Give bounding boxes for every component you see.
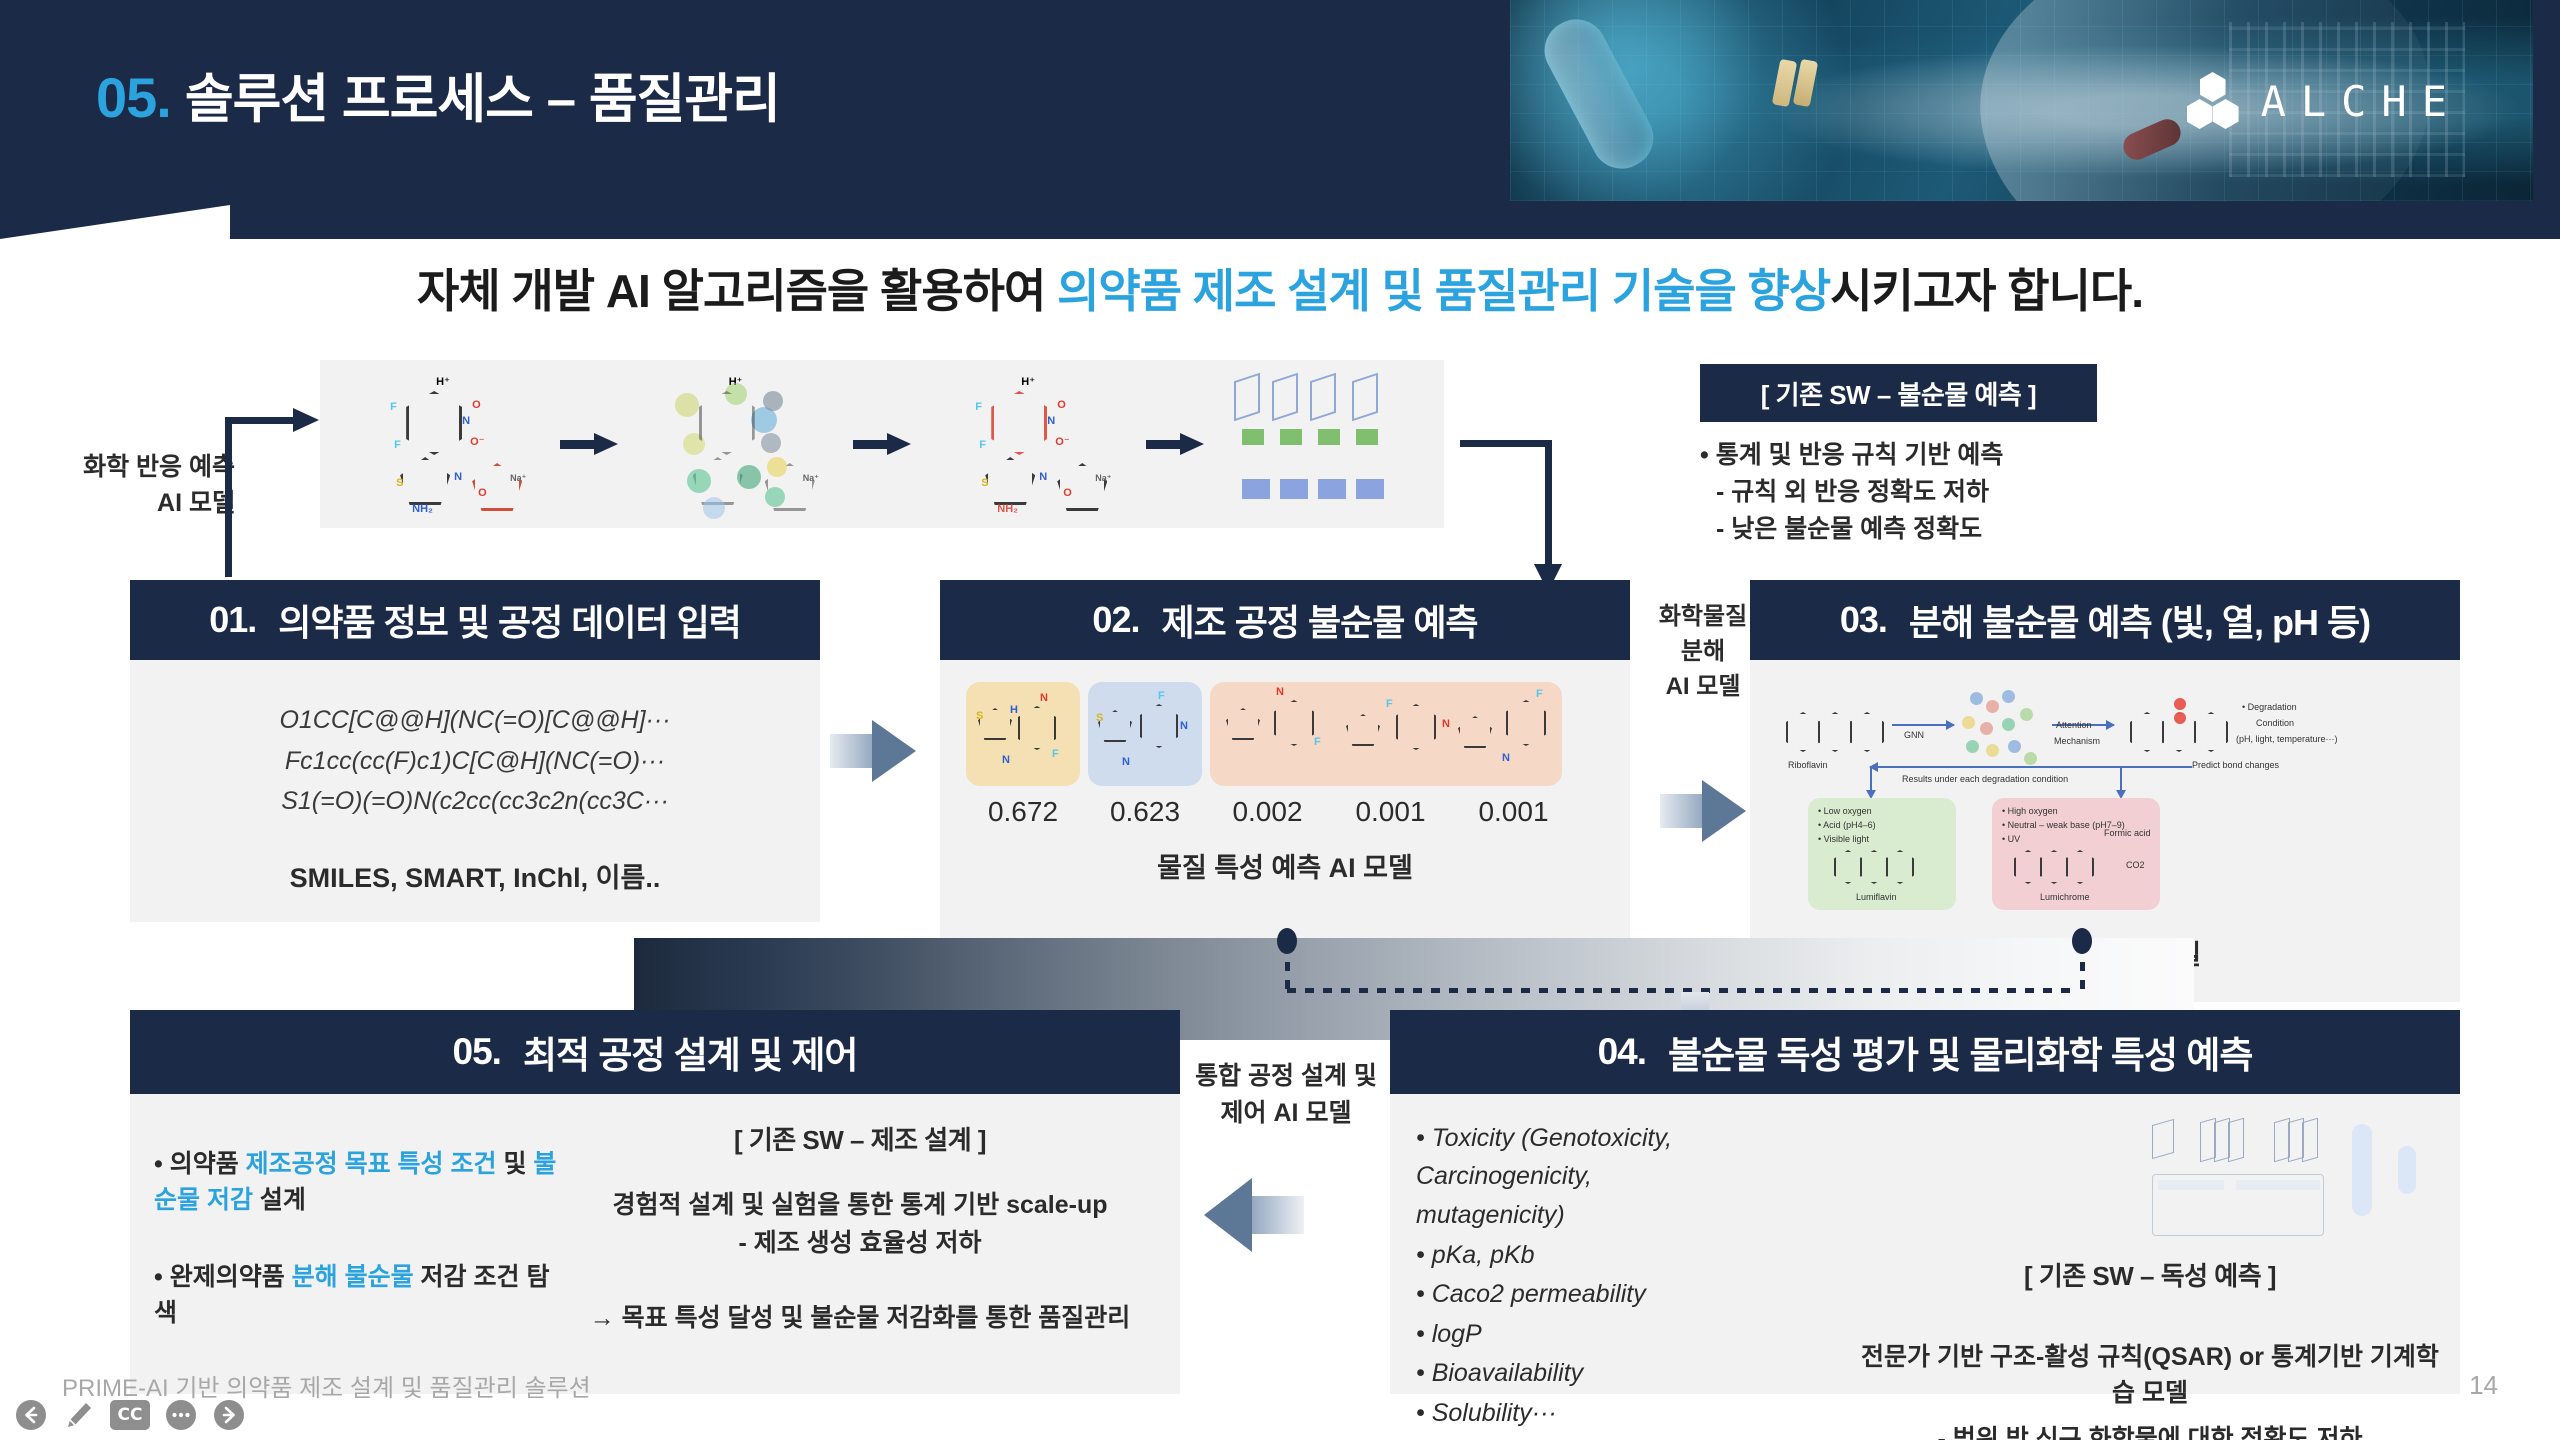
legacy-sw-impurity-heading: [ 기존 SW – 불순물 예측 ] (1700, 364, 2097, 422)
box04-legacy-heading: [ 기존 SW – 독성 예측 ] (1860, 1256, 2440, 1293)
mid-int-line1: 통합 공정 설계 및 (1186, 1058, 1386, 1095)
qsar-model-figure (2144, 1112, 2434, 1247)
card-box05-number: 05. (453, 1031, 501, 1073)
reaction-arrow-icon (1146, 433, 1204, 455)
capsule-graphic (2119, 115, 2185, 164)
degradation-result-card-low-oxygen: • Low oxygen • Acid (pH4–6) • Visible li… (1808, 798, 1956, 910)
card-box01: 01. 의약품 정보 및 공정 데이터 입력 O1CC[C@@H](NC(=O)… (130, 580, 820, 922)
card-box02-number: 02. (1092, 599, 1139, 641)
arrow-box02-to-box03-icon (1660, 780, 1746, 842)
pink-bullet-0: • High oxygen (2002, 806, 2058, 816)
impurity-score-0: 0.672 (966, 796, 1080, 828)
reaction-model-label-line1: 화학 반응 예측 (30, 450, 235, 486)
box05-bullet-1-a: • 의약품 (154, 1150, 246, 1178)
reaction-arrow-icon (560, 433, 618, 455)
smiles-line-0: O1CC[C@@H](NC(=O)[C@@H]··· (130, 700, 820, 741)
green-bullet-0: • Low oxygen (1818, 806, 1872, 816)
slide-header: 05. 솔루션 프로세스 – 품질관리 ALCHE (0, 0, 2560, 205)
box05-bullet-2-a: • 완제의약품 (154, 1263, 292, 1291)
box04-legacy-sw-block: [ 기존 SW – 독성 예측 ] 전문가 기반 구조-활성 규칙(QSAR) … (1860, 1256, 2440, 1440)
box04-property-4: • logP (1416, 1316, 1846, 1354)
legacy-sw-impurity-bullets: • 통계 및 반응 규칙 기반 예측 - 규칙 외 반응 정확도 저하 - 낮은… (1700, 437, 2240, 547)
arrow-box01-to-box02-icon (830, 720, 916, 782)
connector-reaction-to-box03 (1460, 440, 1580, 600)
pill-graphic (1793, 59, 1818, 107)
pink-bullet-2: • UV (2002, 834, 2020, 844)
card-box01-body: O1CC[C@@H](NC(=O)[C@@H]··· Fc1cc(cc(F)c1… (130, 660, 820, 922)
card-box01-title: 의약품 정보 및 공정 데이터 입력 (278, 594, 741, 646)
figure-condition-line3: (pH, light, temperature···) (2236, 734, 2338, 744)
header-angled-notch (0, 205, 2560, 239)
subtitle-highlight: 의약품 제조 설계 및 품질관리 기술을 향상 (1057, 265, 1830, 317)
brand-logo: ALCHE (2187, 72, 2462, 130)
impurity-molecule-tile-3: N F F N F N (1210, 682, 1562, 786)
page-title-text: 솔루션 프로세스 – 품질관리 (185, 57, 780, 133)
card-box03-title: 분해 불순물 예측 (빛, 열, pH 등) (1909, 594, 2370, 646)
box04-property-3: • Caco2 permeability (1416, 1276, 1846, 1314)
viewer-controls[interactable]: CC (14, 1398, 246, 1432)
card-box04: 04. 불순물 독성 평가 및 물리화학 특성 예측 • Toxicity (G… (1390, 1010, 2460, 1394)
box05-legacy-line1: 경험적 설계 및 실험을 통한 통계 기반 scale-up (560, 1187, 1160, 1225)
slide-subtitle: 자체 개발 AI 알고리즘을 활용하여 의약품 제조 설계 및 품질관리 기술을… (0, 255, 2560, 321)
pink-extra-formic-acid: Formic acid (2104, 828, 2151, 838)
degradation-prediction-figure: Riboflavin GNN Attention Mechanism (1774, 678, 2434, 918)
test-tube-graphic (1534, 9, 1664, 179)
brand-logo-text: ALCHE (2261, 77, 2462, 126)
box04-property-list: • Toxicity (Genotoxicity, Carcinogenicit… (1416, 1120, 1846, 1434)
subtitle-lead: 자체 개발 AI 알고리즘을 활용하여 (417, 265, 1057, 317)
box05-bullet-1-c: 설계 (253, 1186, 306, 1214)
legacy-sw-bullet-2: - 낮은 불순물 예측 정확도 (1700, 511, 2240, 548)
next-icon[interactable] (212, 1398, 246, 1432)
card-box03-number: 03. (1840, 599, 1887, 641)
figure-source-label: Riboflavin (1788, 760, 1828, 770)
reaction-step-neural-network (1228, 369, 1414, 519)
pen-icon[interactable] (62, 1398, 96, 1432)
green-bullet-2: • Visible light (1818, 834, 1869, 844)
reaction-step-reactants: H⁺ F F N O O⁻ S N NH₂ O Na⁺ (350, 369, 536, 519)
box04-property-1: mutagenicity) (1416, 1197, 1846, 1235)
dashed-line-vertical-right (2080, 944, 2085, 990)
pink-extra-co2: CO2 (2126, 860, 2145, 870)
cc-icon[interactable]: CC (110, 1400, 150, 1430)
reaction-model-label: 화학 반응 예측 AI 모델 (30, 450, 235, 521)
box05-legacy-sw-block: [ 기존 SW – 제조 설계 ] 경험적 설계 및 실험을 통한 통계 기반 … (560, 1094, 1180, 1394)
connector-label-to-reaction (225, 417, 320, 577)
impurity-score-1: 0.623 (1088, 796, 1202, 828)
card-box04-number: 04. (1598, 1031, 1646, 1073)
smiles-list: O1CC[C@@H](NC(=O)[C@@H]··· Fc1cc(cc(F)c1… (130, 660, 820, 822)
legacy-sw-bullet-0: • 통계 및 반응 규칙 기반 예측 (1700, 437, 2240, 474)
figure-attention-label-b: Mechanism (2054, 736, 2100, 746)
box05-bullet-1-b: 및 (497, 1150, 534, 1178)
box05-bullet-1: • 의약품 제조공정 목표 특성 조건 및 불순물 저감 설계 (154, 1146, 560, 1219)
slide-root: 05. 솔루션 프로세스 – 품질관리 ALCHE 자체 개발 AI 알고리즘을… (0, 0, 2560, 1440)
figure-arrow-gnn-icon (1892, 724, 1954, 726)
impurity-score-3: 0.001 (1333, 796, 1448, 828)
figure-condition-line2: Condition (2256, 718, 2294, 728)
card-box04-body: • Toxicity (Genotoxicity, Carcinogenicit… (1390, 1094, 2460, 1394)
box05-conclusion: → 목표 특성 달성 및 불순물 저감화를 통한 품질관리 (560, 1298, 1160, 1334)
legacy-sw-bullet-1: - 규칙 외 반응 정확도 저하 (1700, 474, 2240, 511)
smiles-line-1: Fc1cc(cc(F)c1)C[C@H](NC(=O)··· (130, 741, 820, 782)
figure-predict-bond-label: Predict bond changes (2192, 760, 2279, 770)
figure-condition-bullet: • Degradation (2242, 702, 2297, 712)
arrow-box04-to-box05-icon (1204, 1178, 1304, 1252)
card-box01-header: 01. 의약품 정보 및 공정 데이터 입력 (130, 580, 820, 660)
reaction-diagram-panel: H⁺ F F N O O⁻ S N NH₂ O Na⁺ H⁺ (320, 360, 1444, 528)
smiles-format-caption: SMILES, SMART, InChl, 이름.. (130, 856, 820, 895)
mid-int-line2: 제어 AI 모델 (1186, 1095, 1386, 1132)
page-title: 05. 솔루션 프로세스 – 품질관리 (96, 57, 780, 133)
prev-icon[interactable] (14, 1398, 48, 1432)
smiles-line-2: S1(=O)(=O)N(c2cc(cc3c2n(cc3C··· (130, 781, 820, 822)
impurity-molecule-tile-1: S H N N F (966, 682, 1080, 786)
box05-legacy-line2: - 제조 생성 효율성 저하 (560, 1225, 1160, 1263)
card-box05: 05. 최적 공정 설계 및 제어 • 의약품 제조공정 목표 특성 조건 및 … (130, 1010, 1180, 1394)
box04-property-6: • Solubility··· (1416, 1395, 1846, 1433)
page-number: 14 (2469, 1370, 2498, 1401)
figure-gnn-label: GNN (1904, 730, 1924, 740)
figure-attention-label-a: Attention (2056, 720, 2092, 730)
impurity-score-4: 0.001 (1456, 796, 1571, 828)
box04-legacy-line2: - 범위 밖 신규 화합물에 대한 정확도 저하 (1860, 1419, 2440, 1440)
more-icon[interactable] (164, 1398, 198, 1432)
degradation-result-card-high-oxygen: • High oxygen • Neutral – weak base (pH7… (1992, 798, 2160, 910)
reaction-arrow-icon (853, 433, 911, 455)
card-box04-header: 04. 불순물 독성 평가 및 물리화학 특성 예측 (1390, 1010, 2460, 1094)
subtitle-tail: 시키고자 합니다. (1830, 265, 2143, 317)
card-box05-header: 05. 최적 공정 설계 및 제어 (130, 1010, 1180, 1094)
impurity-molecule-strip: S H N N F S F N N N (940, 660, 1630, 786)
impurity-score-row: 0.672 0.623 0.002 0.001 0.001 (940, 786, 1630, 828)
box04-legacy-line1: 전문가 기반 구조-활성 규칙(QSAR) or 통계기반 기계학습 모델 (1860, 1337, 2440, 1409)
impurity-molecule-tile-2: S F N N (1088, 682, 1202, 786)
green-compound-name: Lumiflavin (1856, 892, 1897, 902)
atom-h-label: H⁺ (436, 375, 450, 388)
card-box04-title: 불순물 독성 평가 및 물리화학 특성 예측 (1668, 1025, 2252, 1079)
dashed-line-vertical-left (1285, 944, 1290, 990)
card-box02-title: 제조 공정 불순물 예측 (1161, 594, 1477, 646)
box05-legacy-heading: [ 기존 SW – 제조 설계 ] (560, 1120, 1160, 1157)
reaction-step-attention-map: H⁺ Na⁺ (643, 369, 829, 519)
box04-property-5: • Bioavailability (1416, 1355, 1846, 1393)
card-box03-header: 03. 분해 불순물 예측 (빛, 열, pH 등) (1750, 580, 2460, 660)
box04-property-0: • Toxicity (Genotoxicity, Carcinogenicit… (1416, 1120, 1846, 1195)
box04-property-2: • pKa, pKb (1416, 1237, 1846, 1275)
box05-bullet-2: • 완제의약품 분해 불순물 저감 조건 탐색 (154, 1259, 560, 1332)
reaction-step-product: H⁺ F F N O O⁻ S N NH₂ O Na⁺ (935, 369, 1121, 519)
figure-results-label: Results under each degradation condition (1902, 774, 2068, 784)
molecule-hex-icon (2187, 72, 2239, 130)
box05-bullet-2-hl: 분해 불순물 (292, 1263, 414, 1291)
integrated-process-model-label: 통합 공정 설계 및 제어 AI 모델 (1186, 1058, 1386, 1131)
box05-bullet-1-hl1: 제조공정 목표 특성 조건 (246, 1150, 497, 1178)
green-bullet-1: • Acid (pH4–6) (1818, 820, 1876, 830)
impurity-score-2: 0.002 (1210, 796, 1325, 828)
card-box05-title: 최적 공정 설계 및 제어 (523, 1025, 857, 1079)
card-box05-body: • 의약품 제조공정 목표 특성 조건 및 불순물 저감 설계 • 완제의약품 … (130, 1094, 1180, 1394)
box05-bullet-list: • 의약품 제조공정 목표 특성 조건 및 불순물 저감 설계 • 완제의약품 … (130, 1094, 560, 1394)
page-title-number: 05. (96, 65, 171, 130)
card-box01-number: 01. (209, 599, 256, 641)
card-box02-header: 02. 제조 공정 불순물 예측 (940, 580, 1630, 660)
pink-compound-name: Lumichrome (2040, 892, 2090, 902)
reaction-model-label-line2: AI 모델 (30, 486, 235, 522)
card-box02-footer-caption: 물질 특성 예측 AI 모델 (940, 846, 1630, 885)
